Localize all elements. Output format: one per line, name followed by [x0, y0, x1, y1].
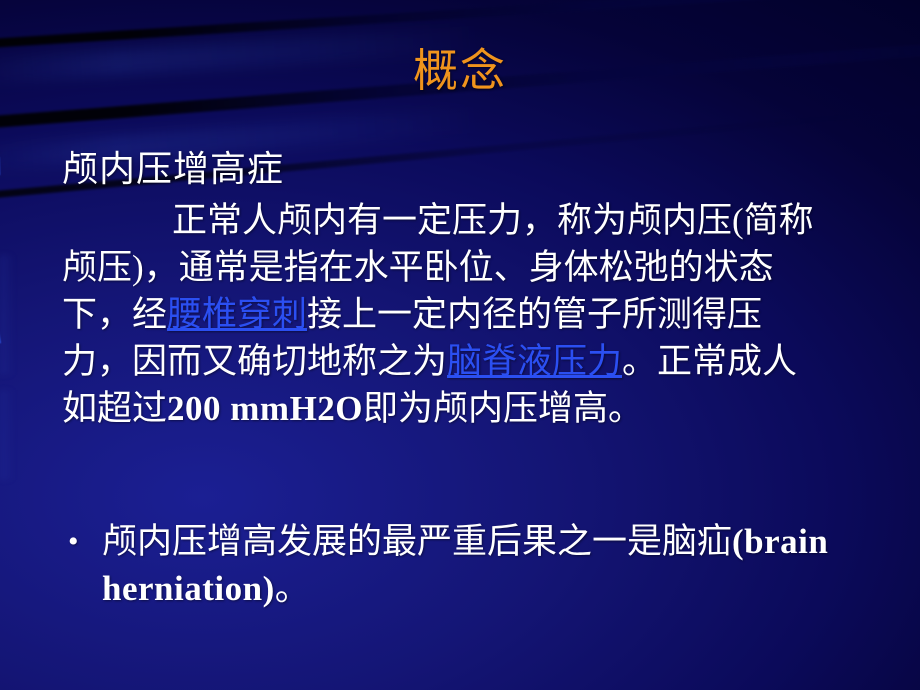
slide-title: 概念 [0, 48, 920, 95]
link-csf-pressure[interactable]: 脑脊液压力 [447, 342, 622, 381]
paragraph-segment-4: 即为颅内压增高。 [363, 389, 643, 428]
bullet-item-text: 颅内压增高发展的最严重后果之一是脑疝(brain herniation)。 [102, 518, 872, 612]
body-paragraph: 正常人颅内有一定压力，称为颅内压(简称颅压)，通常是指在水平卧位、身体松弛的状态… [62, 197, 862, 432]
right-edge-accent-2 [0, 323, 1, 356]
pressure-value: 200 mmH2O [167, 389, 363, 428]
slide-body: 颅内压增高症 正常人颅内有一定压力，称为颅内压(简称颅压)，通常是指在水平卧位、… [62, 143, 862, 432]
bullet-marker-icon: • [62, 518, 102, 565]
bullet-list-item: • 颅内压增高发展的最严重后果之一是脑疝(brain herniation)。 [62, 518, 872, 612]
swoosh-band-1 [0, 0, 920, 51]
left-edge-streak-2 [0, 390, 14, 480]
presentation-slide: 概念 颅内压增高症 正常人颅内有一定压力，称为颅内压(简称颅压)，通常是指在水平… [0, 0, 920, 690]
bullet-text-zh-2: 。 [275, 569, 310, 608]
left-edge-streak-1 [0, 255, 14, 375]
link-lumbar-puncture[interactable]: 腰椎穿刺 [167, 295, 307, 334]
body-heading: 颅内压增高症 [62, 143, 862, 195]
bullet-text-zh-1: 颅内压增高发展的最严重后果之一是脑疝 [102, 522, 732, 561]
